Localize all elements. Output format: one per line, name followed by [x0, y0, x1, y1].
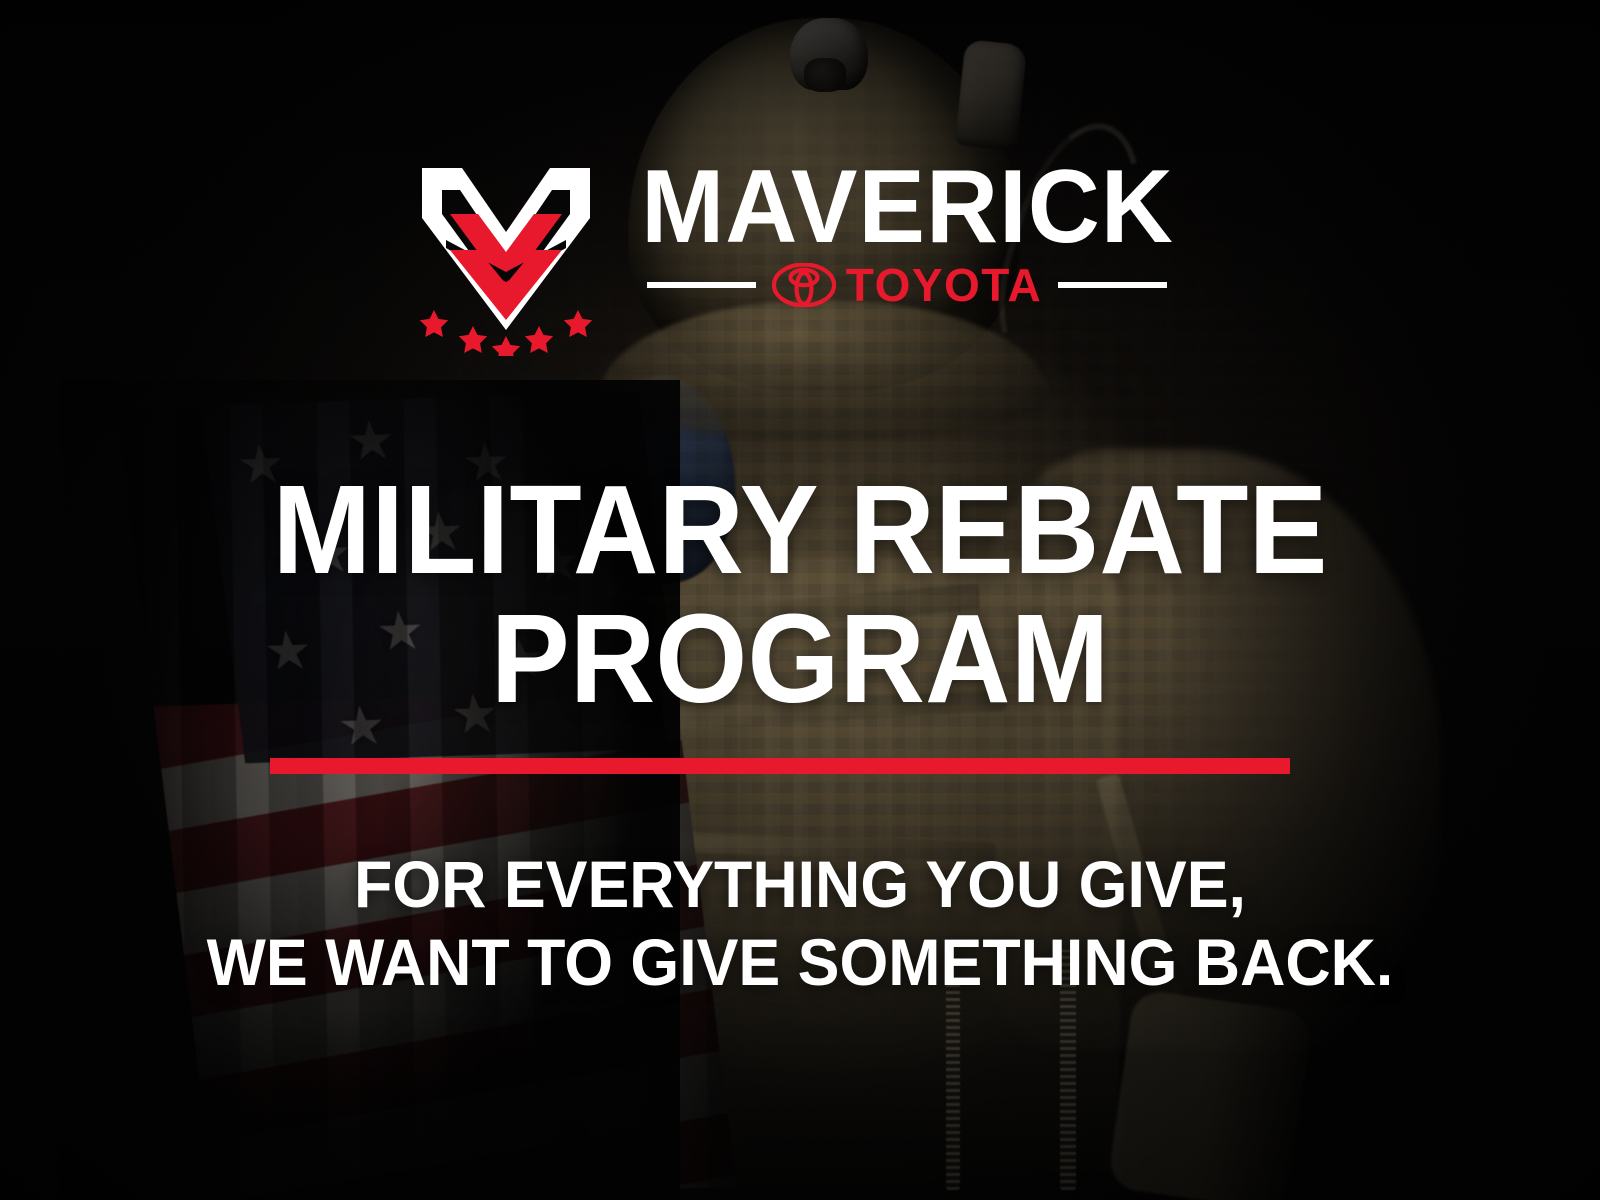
- poster-content: MAVERICK TOYOTA MILITARY R: [0, 0, 1600, 1200]
- page-title: MILITARY REBATE PROGRAM: [48, 466, 1552, 723]
- toyota-lockup: TOYOTA: [772, 262, 1042, 308]
- red-divider: [270, 758, 1290, 774]
- headline-line-2: PROGRAM: [48, 595, 1552, 724]
- maverick-chevron-shield-icon: [416, 160, 596, 356]
- toyota-wordmark: TOYOTA: [846, 262, 1042, 308]
- rule-left: [647, 282, 756, 288]
- tagline-line-2: WE WANT TO GIVE SOMETHING BACK.: [40, 924, 1560, 1002]
- tagline-line-1: FOR EVERYTHING YOU GIVE,: [354, 847, 1246, 921]
- rule-right: [1058, 282, 1167, 288]
- toyota-emblem-icon: [772, 263, 836, 307]
- brand-name: MAVERICK: [641, 160, 1174, 256]
- tagline: FOR EVERYTHING YOU GIVE, WE WANT TO GIVE…: [40, 846, 1560, 1002]
- military-rebate-poster: ★ ★ ★ ★ ★ ★ ★ ★ ★ ★ ★: [0, 0, 1600, 1200]
- brand-wordmark-group: MAVERICK TOYOTA: [630, 160, 1185, 308]
- brand-lockup: MAVERICK TOYOTA: [0, 160, 1600, 356]
- headline-line-1: MILITARY REBATE: [273, 459, 1328, 600]
- sub-brand-row: TOYOTA: [647, 262, 1167, 308]
